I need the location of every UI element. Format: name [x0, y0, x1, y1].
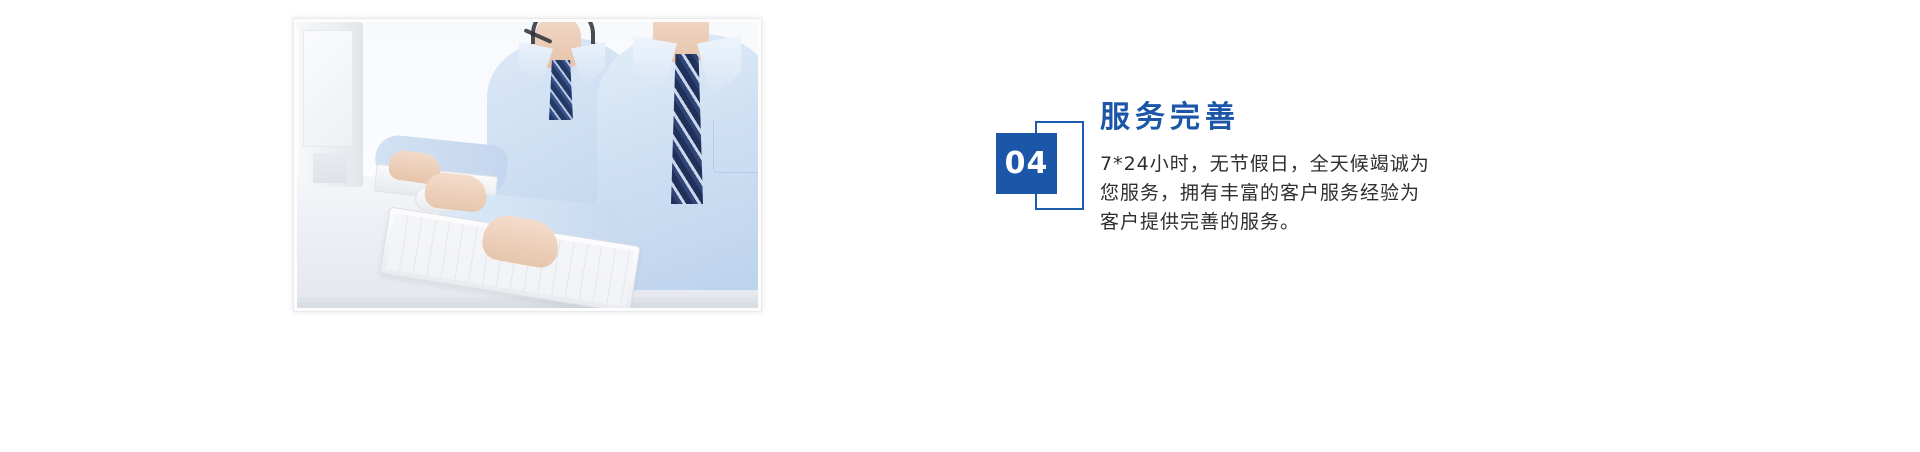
computer-monitor-icon [299, 22, 363, 187]
feature-description-line: 7*24小时，无节假日，全天候竭诚为 [1100, 150, 1570, 179]
front-shirt-pocket [713, 120, 758, 173]
office-photo-panel [293, 18, 762, 312]
step-number-badge: 04 [996, 121, 1086, 233]
office-photo [297, 22, 758, 308]
feature-description-line: 您服务，拥有丰富的客户服务经验为 [1100, 179, 1570, 208]
feature-description-line: 客户提供完善的服务。 [1100, 208, 1570, 237]
badge-number-label: 04 [1005, 149, 1049, 179]
rear-necktie [549, 60, 573, 120]
headset-icon [531, 22, 595, 44]
front-necktie [671, 54, 703, 204]
feature-description: 7*24小时，无节假日，全天候竭诚为 您服务，拥有丰富的客户服务经验为 客户提供… [1100, 150, 1570, 237]
monitor-stand [313, 153, 347, 183]
service-feature-section: 04 服务完善 7*24小时，无节假日，全天候竭诚为 您服务，拥有丰富的客户服务… [0, 0, 1920, 452]
feature-text-block: 服务完善 7*24小时，无节假日，全天候竭诚为 您服务，拥有丰富的客户服务经验为… [1100, 98, 1570, 237]
badge-filled-square: 04 [996, 133, 1057, 194]
monitor-screen [303, 30, 353, 147]
desk-edge [297, 297, 758, 308]
feature-title: 服务完善 [1100, 98, 1570, 138]
